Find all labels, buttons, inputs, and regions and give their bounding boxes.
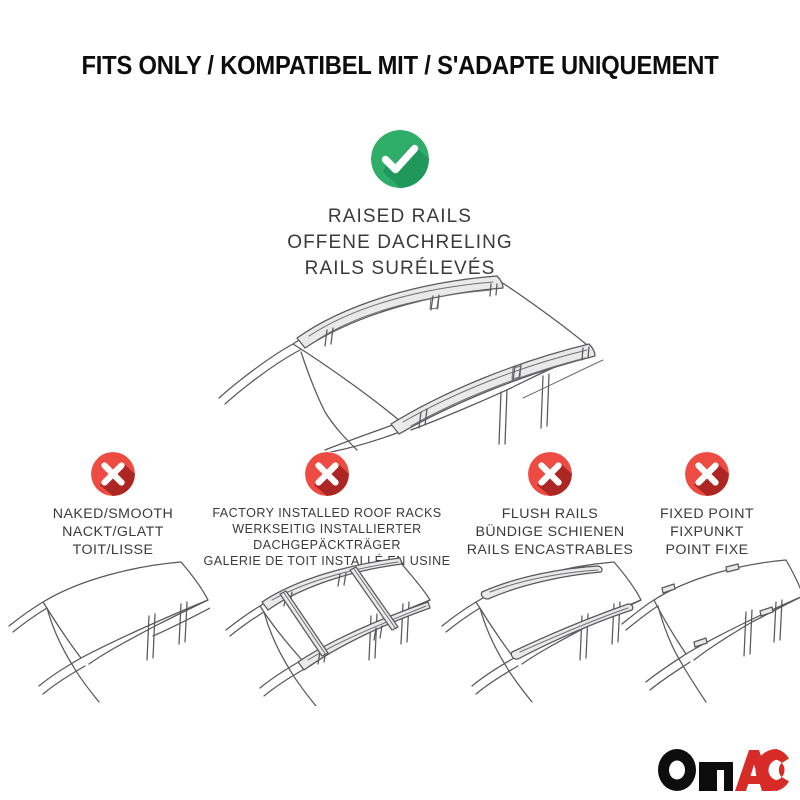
page-title: FITS ONLY / KOMPATIBEL MIT / S'ADAPTE UN…: [28, 52, 772, 81]
cross-circle-icon: [528, 452, 572, 496]
car-roof-naked-illustration: [5, 556, 210, 706]
option-label-en: NAKED/SMOOTH: [13, 505, 213, 523]
option-label-de-1: WERKSEITIG INSTALLIERTER: [202, 521, 452, 537]
check-circle-icon: [371, 130, 429, 188]
option-label-de: BÜNDIGE SCHIENEN: [452, 523, 648, 541]
option-label-de: NACKT/GLATT: [13, 523, 213, 541]
compatible-option: RAISED RAILS OFFENE DACHRELING RAILS SUR…: [0, 130, 800, 283]
cross-circle-icon: [91, 452, 135, 496]
incompatible-option-flush-rails: FLUSH RAILS BÜNDIGE SCHIENEN RAILS ENCAS…: [452, 452, 648, 560]
compatible-label-group: RAISED RAILS OFFENE DACHRELING RAILS SUR…: [0, 204, 800, 283]
incompatible-option-naked-smooth: NAKED/SMOOTH NACKT/GLATT TOIT/LISSE: [13, 452, 213, 560]
cross-circle-icon: [305, 452, 349, 496]
car-roof-fixed-point-illustration: [618, 550, 800, 706]
incompatible-option-fixed-point: FIXED POINT FIXPUNKT POINT FIXE: [640, 452, 774, 560]
car-roof-raised-rails-illustration: [205, 272, 605, 452]
option-label-group: NAKED/SMOOTH NACKT/GLATT TOIT/LISSE: [13, 505, 213, 560]
cross-circle-icon: [685, 452, 729, 496]
omac-logo: [657, 748, 789, 792]
option-label-en: FIXED POINT: [640, 505, 774, 523]
compatible-label-de: OFFENE DACHRELING: [0, 230, 800, 256]
car-roof-factory-rack-illustration: [218, 548, 433, 706]
option-label-en: FLUSH RAILS: [452, 505, 648, 523]
compatible-label-en: RAISED RAILS: [0, 204, 800, 230]
option-label-en: FACTORY INSTALLED ROOF RACKS: [202, 505, 452, 521]
option-label-de: FIXPUNKT: [640, 523, 774, 541]
car-roof-flush-rails-illustration: [438, 556, 643, 706]
